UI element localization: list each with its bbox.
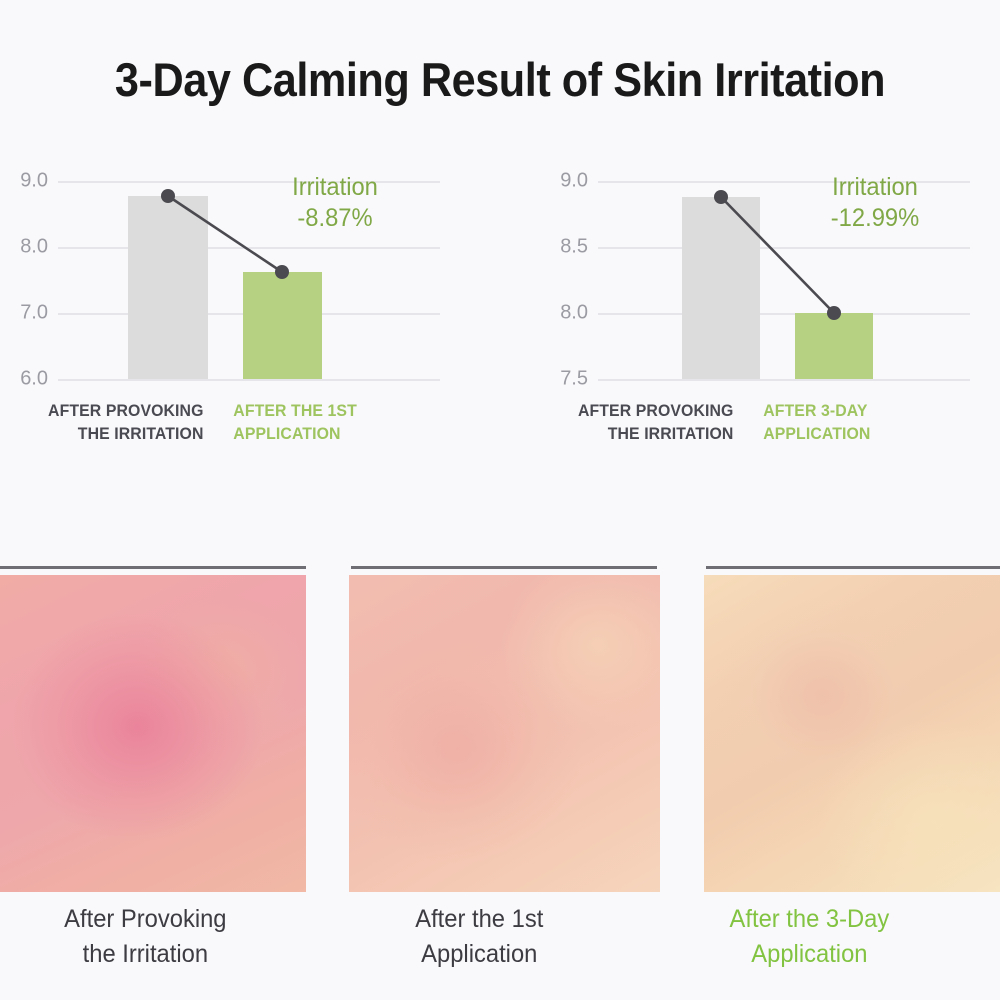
annotation-label: Irritation <box>245 172 426 203</box>
y-tick-label: 9.0 <box>560 170 588 193</box>
y-tick-label: 6.0 <box>20 368 48 391</box>
bar-after-1st-application <box>243 272 322 379</box>
skin-photo-after-3-day-application <box>704 575 1000 892</box>
y-tick-label: 9.0 <box>20 170 48 193</box>
x-label-line: THE IRRITATION <box>38 423 203 446</box>
annotation-irritation-left: Irritation -8.87% <box>245 172 426 234</box>
x-label-after-provoking: AFTER PROVOKING THE IRRITATION <box>568 400 733 446</box>
gridline <box>58 247 440 249</box>
gridline <box>58 379 440 381</box>
bar-after-provoking <box>128 196 208 379</box>
caption-line: Application <box>669 937 950 972</box>
x-label-line: AFTER 3-DAY <box>763 400 955 423</box>
gridline <box>598 247 970 249</box>
y-axis-labels-right: 9.0 8.5 8.0 7.5 <box>530 181 588 379</box>
annotation-label: Irritation <box>780 172 970 203</box>
annotation-value: -8.87% <box>245 203 426 234</box>
skin-texture <box>349 575 660 892</box>
caption-after-1st-application: After the 1st Application <box>332 902 627 972</box>
bar-after-provoking <box>682 197 760 379</box>
photo-top-rule <box>0 566 306 569</box>
caption-line: After Provoking <box>0 902 291 937</box>
annotation-value: -12.99% <box>780 203 970 234</box>
skin-photo-after-provoking <box>0 575 306 892</box>
x-label-line: AFTER PROVOKING <box>568 400 733 423</box>
skin-texture <box>0 575 306 892</box>
x-label-after-provoking: AFTER PROVOKING THE IRRITATION <box>38 400 203 446</box>
y-tick-label: 7.5 <box>560 368 588 391</box>
caption-line: Application <box>332 937 627 972</box>
infographic-page: 3-Day Calming Result of Skin Irritation … <box>0 0 1000 1000</box>
x-label-line: APPLICATION <box>233 423 425 446</box>
caption-line: After the 3-Day <box>669 902 950 937</box>
gridline <box>598 379 970 381</box>
y-tick-label: 8.0 <box>20 236 48 259</box>
annotation-irritation-right: Irritation -12.99% <box>780 172 970 234</box>
bar-after-3-day-application <box>795 313 873 379</box>
x-label-line: THE IRRITATION <box>568 423 733 446</box>
skin-texture <box>704 575 1000 892</box>
y-axis-labels-left: 9.0 8.0 7.0 6.0 <box>0 181 48 379</box>
caption-after-provoking: After Provoking the Irritation <box>0 902 291 972</box>
caption-line: After the 1st <box>332 902 627 937</box>
x-label-line: AFTER THE 1ST <box>233 400 425 423</box>
photo-top-rule <box>706 566 1000 569</box>
page-title: 3-Day Calming Result of Skin Irritation <box>40 52 960 107</box>
x-label-line: AFTER PROVOKING <box>38 400 203 423</box>
y-tick-label: 8.5 <box>560 236 588 259</box>
x-label-after-1st-application: AFTER THE 1ST APPLICATION <box>233 400 425 446</box>
y-tick-label: 7.0 <box>20 302 48 325</box>
x-label-line: APPLICATION <box>763 423 955 446</box>
x-label-after-3-day-application: AFTER 3-DAY APPLICATION <box>763 400 955 446</box>
y-tick-label: 8.0 <box>560 302 588 325</box>
gridline <box>598 313 970 315</box>
skin-photo-after-1st-application <box>349 575 660 892</box>
caption-after-3-day-application: After the 3-Day Application <box>669 902 950 972</box>
photo-top-rule <box>351 566 657 569</box>
caption-line: the Irritation <box>0 937 291 972</box>
